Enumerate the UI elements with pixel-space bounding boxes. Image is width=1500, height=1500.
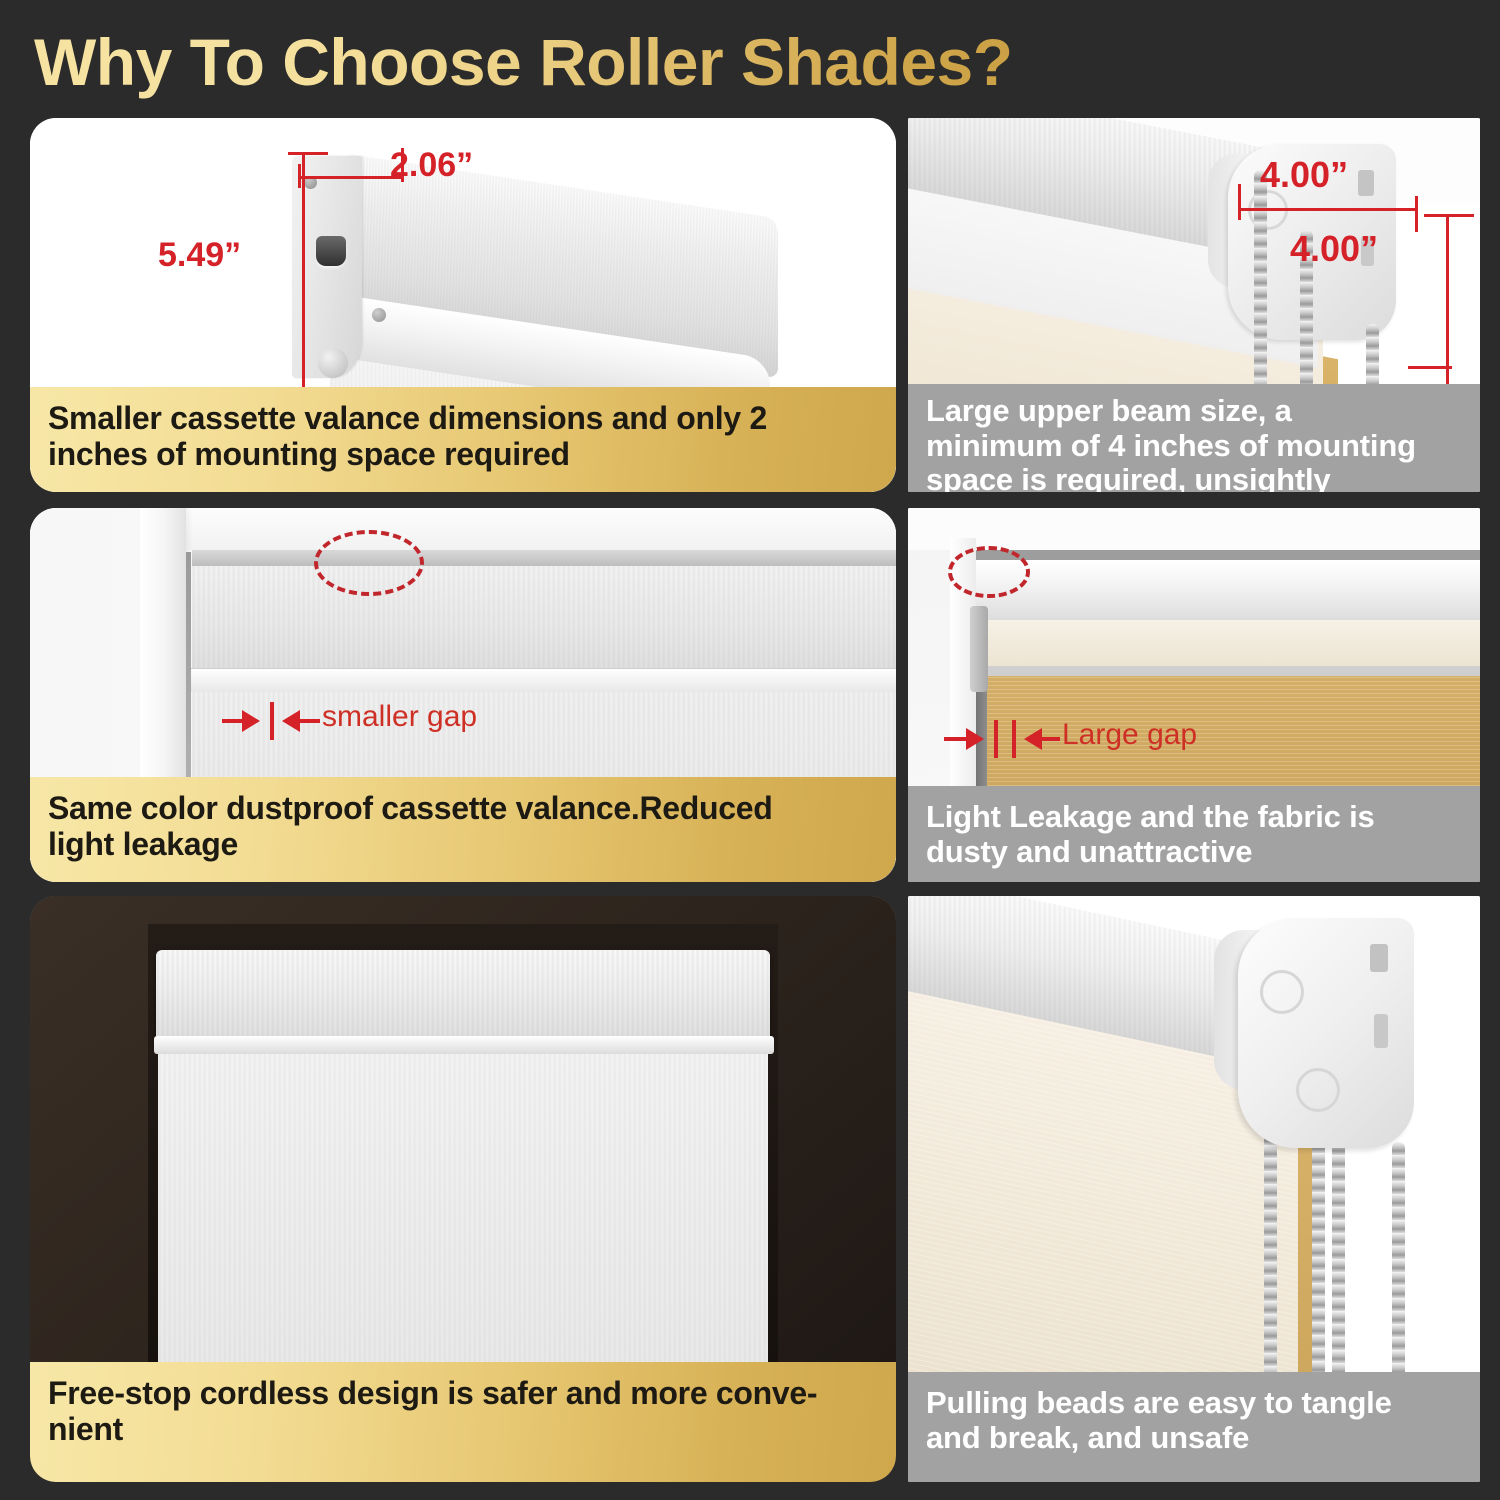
gap-label: Large gap xyxy=(1062,718,1197,752)
width-dimension-tick xyxy=(1415,196,1418,232)
width-dimension-label: 4.00” xyxy=(1260,154,1348,196)
panel-caption-gray: Pulling beads are easy to tangle and bre… xyxy=(908,1372,1480,1482)
bracket-slot xyxy=(316,236,346,266)
gap-arrow-stem xyxy=(1040,737,1060,741)
gap-arrow-stem xyxy=(298,719,320,723)
cassette-valance xyxy=(192,550,896,566)
window-frame-side xyxy=(140,508,186,798)
caption-line: Pulling beads are easy to tangle xyxy=(926,1386,1462,1421)
caption-line: nient xyxy=(48,1412,878,1448)
bracket-ring xyxy=(1296,1068,1340,1112)
highlight-circle-icon xyxy=(314,530,424,596)
roller-tube xyxy=(974,560,1480,626)
width-dimension-line xyxy=(298,176,404,179)
wall-top-strip xyxy=(908,508,1480,550)
middle-rail xyxy=(190,668,896,692)
caption-line: Large upper beam size, a xyxy=(926,394,1462,429)
gap-measure-bar xyxy=(1012,720,1016,758)
caption-line: inches of mounting space required xyxy=(48,437,878,473)
caption-line: minimum of 4 inches of mounting xyxy=(926,429,1462,464)
gap-measure-bar xyxy=(994,720,998,758)
height-dimension-tick xyxy=(1424,214,1474,217)
valance-rail xyxy=(154,1036,774,1054)
panel-caption-gold: Smaller cassette valance dimensions and … xyxy=(30,387,896,492)
caption-line: Light Leakage and the fabric is xyxy=(926,800,1462,835)
bracket-notch xyxy=(1358,170,1374,196)
bracket-hook xyxy=(970,606,988,692)
screw-icon xyxy=(372,308,386,322)
roller-bottom-edge xyxy=(974,666,1480,676)
arrow-right-icon xyxy=(242,710,260,732)
panel-large-upper-beam: 4.00” 4.00” Large upper beam size, a min… xyxy=(908,118,1480,492)
cassette-valance xyxy=(156,950,770,1042)
upper-shade-panel xyxy=(192,566,896,672)
mounting-bracket xyxy=(1238,918,1414,1148)
highlight-circle-icon xyxy=(948,546,1030,598)
panel-caption-gold: Same color dustproof cassette valance.Re… xyxy=(30,777,896,882)
caption-line: dusty and unattractive xyxy=(926,835,1462,870)
caption-line: light leakage xyxy=(48,827,878,863)
width-dimension-label: 2.06” xyxy=(390,146,473,185)
caption-line: Same color dustproof cassette valance.Re… xyxy=(48,791,878,827)
panel-cordless-design: Free-stop cordless design is safer and m… xyxy=(30,896,896,1482)
comparison-grid: 2.06” 5.49” Smaller cassette valance dim… xyxy=(0,0,1500,1500)
bracket-ring xyxy=(1260,970,1304,1014)
gap-measure-bar xyxy=(270,702,274,740)
height-dimension-label: 5.49” xyxy=(158,236,241,275)
caption-line: Smaller cassette valance dimensions and … xyxy=(48,401,878,437)
caption-line: and break, and unsafe xyxy=(926,1421,1462,1456)
height-dimension-tick xyxy=(1408,366,1452,369)
roller-fabric-band xyxy=(974,620,1480,668)
width-dimension-line xyxy=(1238,208,1418,211)
caption-line: Free-stop cordless design is safer and m… xyxy=(48,1376,878,1412)
bracket-notch xyxy=(1370,944,1388,972)
caption-line: space is required, unsightly xyxy=(926,463,1462,492)
panel-smaller-gap: smaller gap Same color dustproof cassett… xyxy=(30,508,896,882)
gap-arrow-stem xyxy=(944,737,968,741)
width-dimension-tick xyxy=(1238,184,1241,220)
width-dimension-tick xyxy=(298,164,301,188)
panel-large-gap: Large gap Light Leakage and the fabric i… xyxy=(908,508,1480,882)
gap-label: smaller gap xyxy=(322,700,477,734)
panel-pulling-beads: Pulling beads are easy to tangle and bre… xyxy=(908,896,1480,1482)
screw-icon xyxy=(318,348,348,378)
panel-caption-gray: Light Leakage and the fabric is dusty an… xyxy=(908,786,1480,882)
arrow-right-icon xyxy=(966,728,984,750)
height-dimension-tick xyxy=(288,152,328,155)
bracket-notch xyxy=(1374,1014,1388,1048)
gap-arrow-stem xyxy=(222,719,244,723)
panel-caption-gold: Free-stop cordless design is safer and m… xyxy=(30,1362,896,1482)
roller-shade-fabric xyxy=(158,1054,768,1408)
height-dimension-label: 4.00” xyxy=(1290,228,1378,270)
panel-caption-gray: Large upper beam size, a minimum of 4 in… xyxy=(908,384,1480,492)
panel-smaller-cassette: 2.06” 5.49” Smaller cassette valance dim… xyxy=(30,118,896,492)
bead-chain xyxy=(1392,1142,1405,1386)
window-frame-top xyxy=(140,508,896,550)
